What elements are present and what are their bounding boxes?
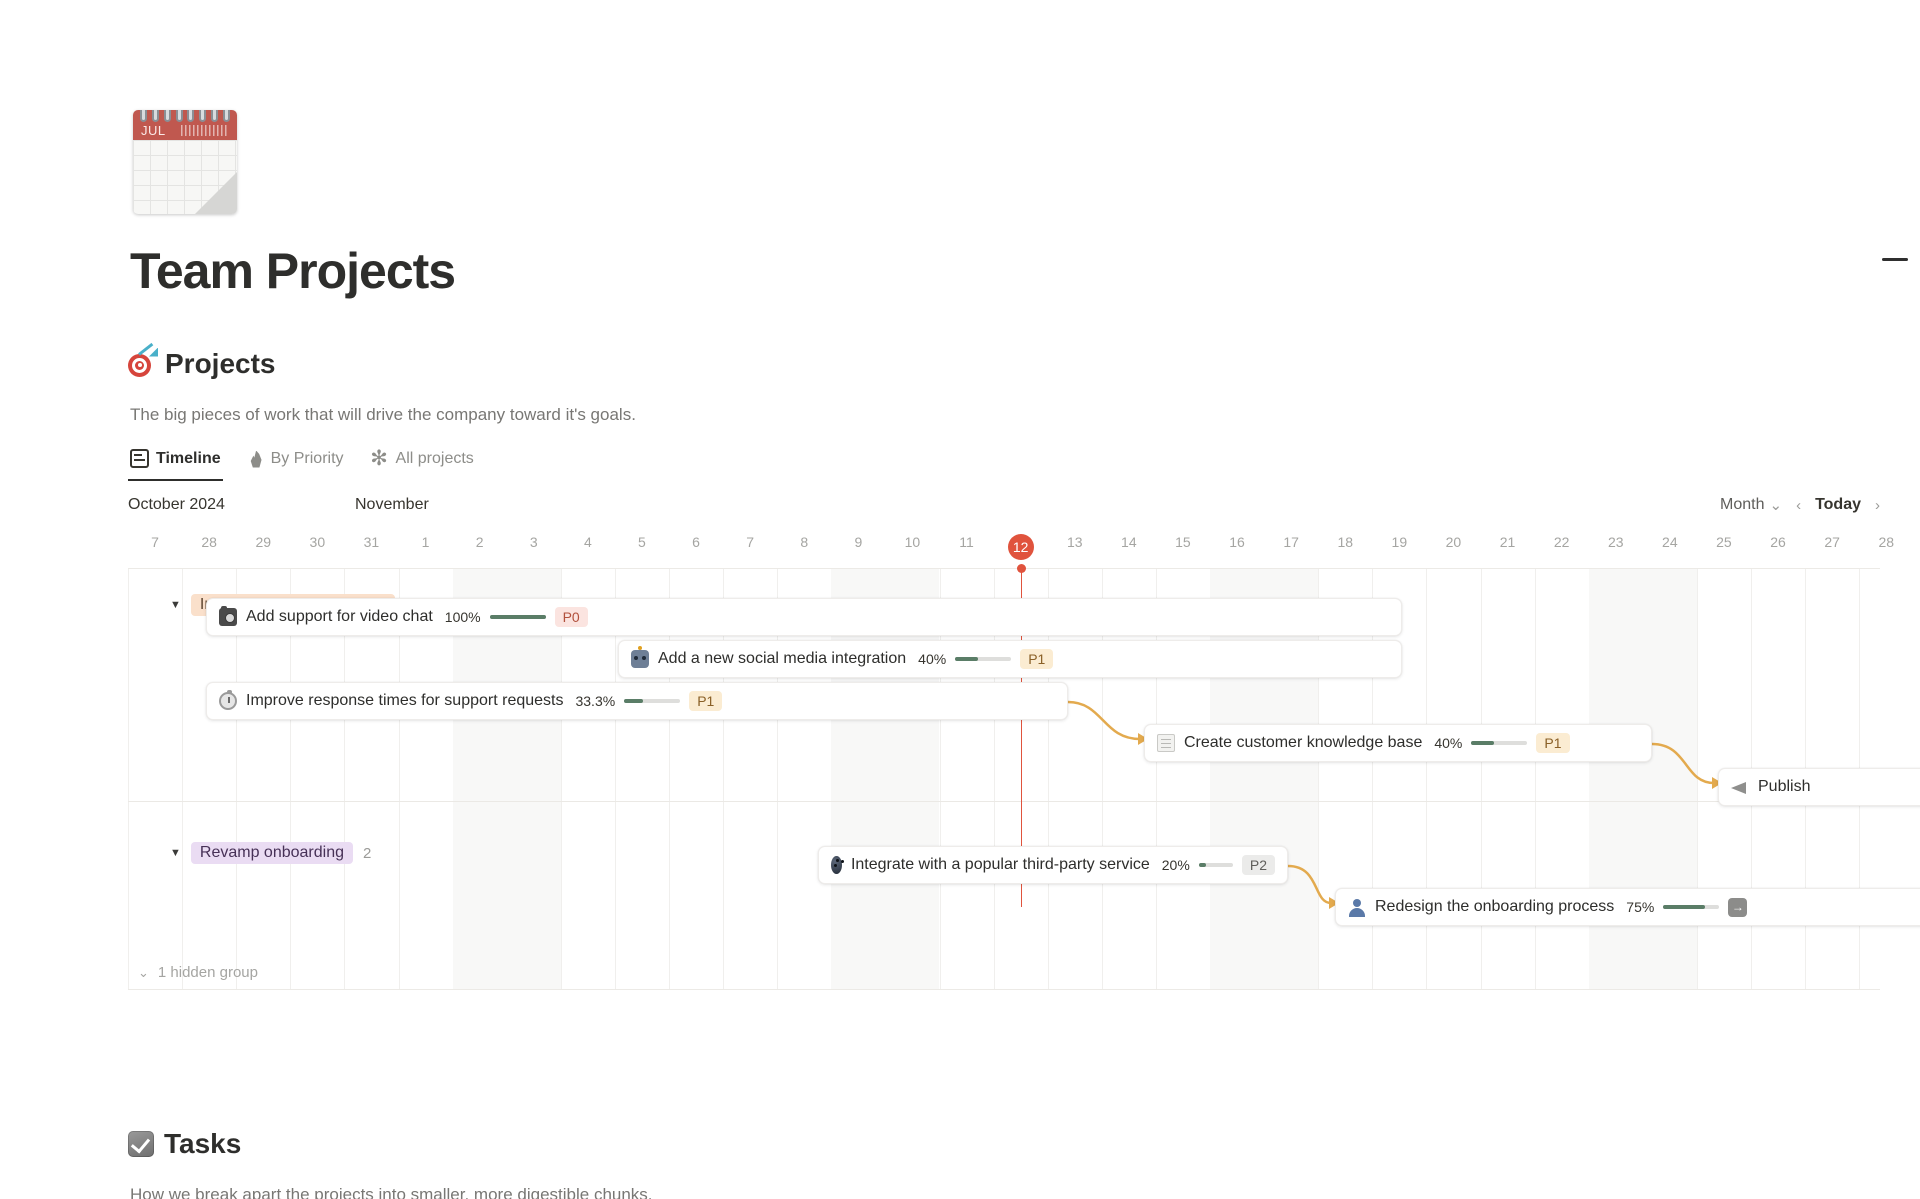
task-priority-badge: P1: [1020, 649, 1053, 669]
timeline-day-row: 7282930311234567891011121314151617181920…: [128, 534, 1880, 560]
day-cell[interactable]: 23: [1602, 534, 1630, 550]
day-cell[interactable]: 19: [1385, 534, 1413, 550]
timeline-task-bar[interactable]: Add support for video chat100%P0: [206, 598, 1402, 636]
day-cell[interactable]: 6: [682, 534, 710, 550]
dart-target-icon: [128, 351, 155, 378]
day-cell-today[interactable]: 12: [1008, 534, 1034, 560]
tab-timeline[interactable]: Timeline: [128, 445, 223, 481]
group-separator: [128, 801, 1880, 802]
group-caret-icon[interactable]: ▼: [170, 599, 181, 611]
day-cell[interactable]: 18: [1331, 534, 1359, 550]
weekend-column: [1643, 569, 1697, 989]
window-minimize-button[interactable]: [1882, 258, 1908, 261]
day-cell[interactable]: 2: [466, 534, 494, 550]
projects-section-heading: Projects: [128, 348, 276, 380]
timeline-task-bar[interactable]: Improve response times for support reque…: [206, 682, 1068, 720]
task-priority-badge: P0: [555, 607, 588, 627]
today-marker-dot: [1017, 564, 1026, 573]
fire-icon: [249, 451, 264, 468]
month-label-november: November: [355, 496, 429, 514]
timeline-view: Month ⌄ ‹ Today › October 2024 November …: [128, 496, 1880, 1004]
timeline-task-bar[interactable]: Publish: [1718, 768, 1920, 806]
task-progress-bar: [490, 615, 546, 619]
task-priority-badge: P1: [1536, 733, 1569, 753]
person-icon: [1348, 898, 1366, 916]
timeline-task-bar[interactable]: Add a new social media integration40%P1: [618, 640, 1402, 678]
page-title: Team Projects: [130, 246, 455, 296]
task-priority-badge: P2: [1242, 855, 1275, 875]
bowling-ball-icon: [831, 856, 842, 874]
timeline-month-row: October 2024 November: [128, 496, 1880, 522]
megaphone-icon: [1731, 778, 1749, 796]
day-cell[interactable]: 1: [412, 534, 440, 550]
task-priority-badge: P1: [689, 691, 722, 711]
day-cell[interactable]: 26: [1764, 534, 1792, 550]
task-progress-bar: [955, 657, 1011, 661]
task-progress-percent: 40%: [918, 651, 946, 667]
day-cell[interactable]: 24: [1656, 534, 1684, 550]
calendar-emoji: JUL: [133, 110, 237, 214]
day-cell[interactable]: 20: [1439, 534, 1467, 550]
white-check-mark-icon: [128, 1131, 154, 1157]
tab-timeline-label: Timeline: [156, 450, 221, 468]
chevron-down-icon: ⌄: [138, 965, 149, 981]
day-cell[interactable]: 3: [520, 534, 548, 550]
tab-by-priority[interactable]: By Priority: [245, 446, 346, 481]
task-progress-percent: 33.3%: [575, 693, 615, 709]
timeline-icon: [130, 449, 149, 468]
task-title: Redesign the onboarding process: [1375, 898, 1614, 916]
task-progress-percent: 75%: [1626, 899, 1654, 915]
day-cell[interactable]: 15: [1169, 534, 1197, 550]
task-title: Publish: [1758, 778, 1810, 796]
tab-all-projects-label: All projects: [396, 450, 474, 468]
task-title: Improve response times for support reque…: [246, 692, 563, 710]
projects-heading-text: Projects: [165, 348, 276, 380]
hidden-group-label: 1 hidden group: [158, 964, 258, 981]
day-cell[interactable]: 31: [357, 534, 385, 550]
month-label-october: October 2024: [128, 496, 225, 514]
day-cell[interactable]: 5: [628, 534, 656, 550]
day-cell[interactable]: 10: [898, 534, 926, 550]
tasks-heading-text: Tasks: [164, 1128, 241, 1160]
task-progress-bar: [1471, 741, 1527, 745]
task-progress-bar: [1199, 863, 1233, 867]
task-progress-percent: 40%: [1434, 735, 1462, 751]
day-cell[interactable]: 22: [1548, 534, 1576, 550]
day-cell[interactable]: 29: [249, 534, 277, 550]
day-cell[interactable]: 25: [1710, 534, 1738, 550]
day-cell[interactable]: 21: [1494, 534, 1522, 550]
group-header-revamp-onboarding[interactable]: ▼ Revamp onboarding 2: [170, 842, 371, 864]
task-title: Add support for video chat: [246, 608, 433, 626]
tab-all-projects[interactable]: ✻ All projects: [368, 445, 476, 481]
task-progress-bar: [624, 699, 680, 703]
task-progress-percent: 100%: [445, 609, 481, 625]
day-cell[interactable]: 16: [1223, 534, 1251, 550]
day-cell[interactable]: 14: [1115, 534, 1143, 550]
page-icon: [1157, 734, 1175, 752]
day-cell[interactable]: 27: [1818, 534, 1846, 550]
page-root: JUL Team Projects Projects The big piece…: [0, 0, 1920, 1199]
grid-line: [1481, 569, 1482, 989]
task-title: Integrate with a popular third-party ser…: [851, 856, 1150, 874]
day-cell[interactable]: 11: [953, 534, 981, 550]
grid-line: [1697, 569, 1698, 989]
day-cell[interactable]: 9: [844, 534, 872, 550]
timeline-task-bar[interactable]: Create customer knowledge base40%P1: [1144, 724, 1652, 762]
tasks-section-heading: Tasks: [128, 1128, 241, 1160]
day-cell[interactable]: 7: [736, 534, 764, 550]
robot-icon: [631, 650, 649, 668]
weekend-column: [1589, 569, 1643, 989]
asterisk-icon: ✻: [370, 449, 389, 468]
calendar-month-label: JUL: [141, 123, 166, 138]
task-progress-percent: 20%: [1162, 857, 1190, 873]
camera-icon: [219, 608, 237, 626]
grid-line: [1535, 569, 1536, 989]
task-title: Add a new social media integration: [658, 650, 906, 668]
day-cell[interactable]: 7: [141, 534, 169, 550]
day-cell[interactable]: 30: [303, 534, 331, 550]
open-task-arrow-button[interactable]: →: [1728, 898, 1747, 917]
tab-by-priority-label: By Priority: [271, 450, 344, 468]
group-name-pill: Revamp onboarding: [191, 842, 353, 864]
timeline-task-bar[interactable]: Redesign the onboarding process75%→: [1335, 888, 1920, 926]
group-caret-icon[interactable]: ▼: [170, 847, 181, 859]
hidden-group-toggle[interactable]: ⌄ 1 hidden group: [138, 964, 258, 981]
day-cell[interactable]: 4: [574, 534, 602, 550]
day-cell[interactable]: 13: [1061, 534, 1089, 550]
day-cell[interactable]: 17: [1277, 534, 1305, 550]
day-cell[interactable]: 28: [1872, 534, 1900, 550]
grid-line: [1426, 569, 1427, 989]
view-tabs: Timeline By Priority ✻ All projects: [128, 445, 476, 481]
projects-section-description: The big pieces of work that will drive t…: [130, 405, 636, 425]
task-title: Create customer knowledge base: [1184, 734, 1422, 752]
grid-line: [128, 569, 129, 989]
day-cell[interactable]: 28: [195, 534, 223, 550]
day-cell[interactable]: 8: [790, 534, 818, 550]
task-progress-bar: [1663, 905, 1719, 909]
stopwatch-icon: [219, 692, 237, 710]
timeline-task-bar[interactable]: Integrate with a popular third-party ser…: [818, 846, 1288, 884]
tasks-section-description: How we break apart the projects into sma…: [130, 1185, 653, 1199]
grid-line: [182, 569, 183, 989]
group-task-count: 2: [363, 845, 371, 862]
